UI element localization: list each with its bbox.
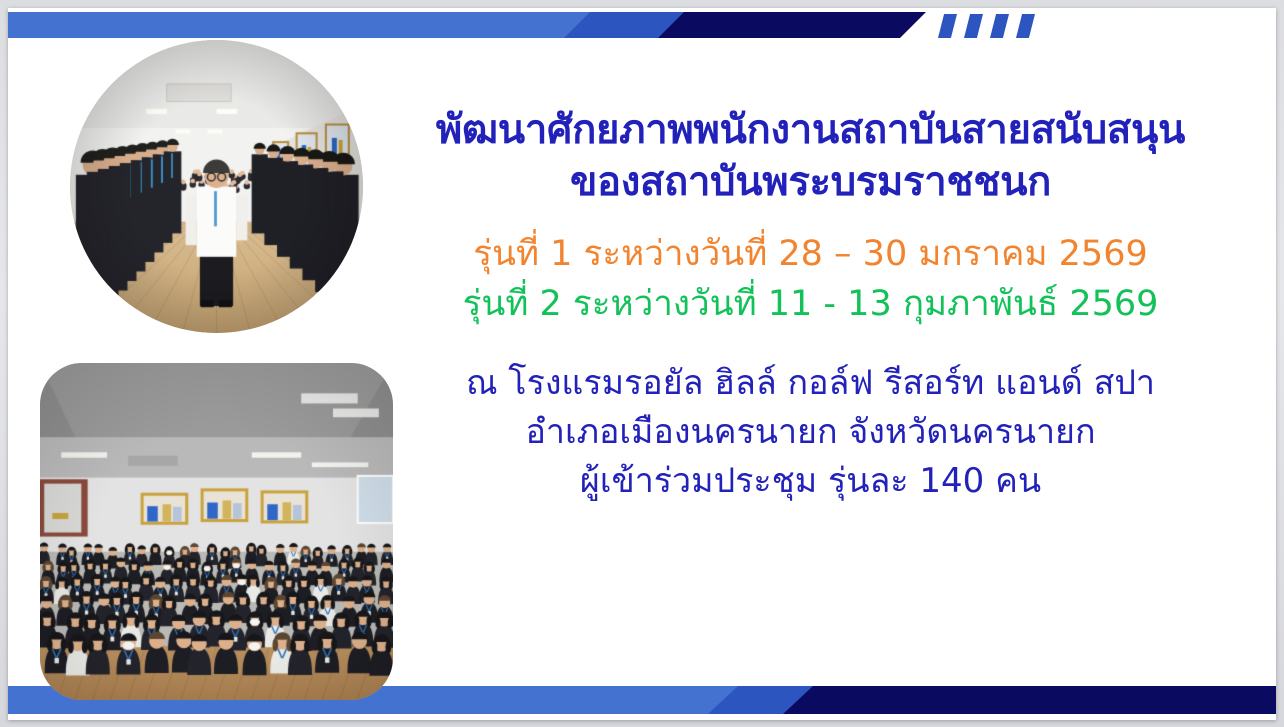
slide-frame: พัฒนาศักยภาพพนักงานสถาบันสายสนับสนุน ของ…: [0, 0, 1284, 727]
top-slash-group-icon: [938, 14, 1048, 38]
venue-line-district: อำเภอเมืองนครนายก จังหวัดนครนายก: [358, 408, 1263, 457]
group-photo: [40, 363, 393, 700]
venue-line-attendees: ผู้เข้าร่วมประชุม รุ่นละ 140 คน: [358, 457, 1263, 506]
group-photo-image: [40, 363, 393, 700]
hallway-welcome-photo-image: [70, 40, 363, 333]
slide-canvas: พัฒนาศักยภาพพนักงานสถาบันสายสนับสนุน ของ…: [8, 8, 1276, 720]
date-block: รุ่นที่ 1 ระหว่างวันที่ 28 – 30 มกราคม 2…: [358, 230, 1263, 329]
date-line-batch-2: รุ่นที่ 2 ระหว่างวันที่ 11 - 13 กุมภาพัน…: [358, 280, 1263, 330]
top-navy-parallelogram: [658, 12, 926, 38]
slash-icon-3: [990, 14, 1009, 38]
page-title-line-1: พัฒนาศักยภาพพนักงานสถาบันสายสนับสนุน: [358, 104, 1263, 156]
slash-icon-2: [964, 14, 983, 38]
slash-icon-1: [938, 14, 957, 38]
venue-line-hotel: ณ โรงแรมรอยัล ฮิลล์ กอล์ฟ รีสอร์ท แอนด์ …: [358, 359, 1263, 408]
date-line-batch-1: รุ่นที่ 1 ระหว่างวันที่ 28 – 30 มกราคม 2…: [358, 230, 1263, 280]
hallway-welcome-photo: [70, 40, 363, 333]
bottom-navy-bar: [783, 686, 1276, 714]
top-light-blue-bar: [8, 12, 618, 38]
slide-text-column: พัฒนาศักยภาพพนักงานสถาบันสายสนับสนุน ของ…: [358, 104, 1263, 506]
slash-icon-4: [1016, 14, 1035, 38]
venue-block: ณ โรงแรมรอยัล ฮิลล์ กอล์ฟ รีสอร์ท แอนด์ …: [358, 359, 1263, 506]
page-title-line-2: ของสถาบันพระบรมราชชนก: [358, 156, 1263, 208]
